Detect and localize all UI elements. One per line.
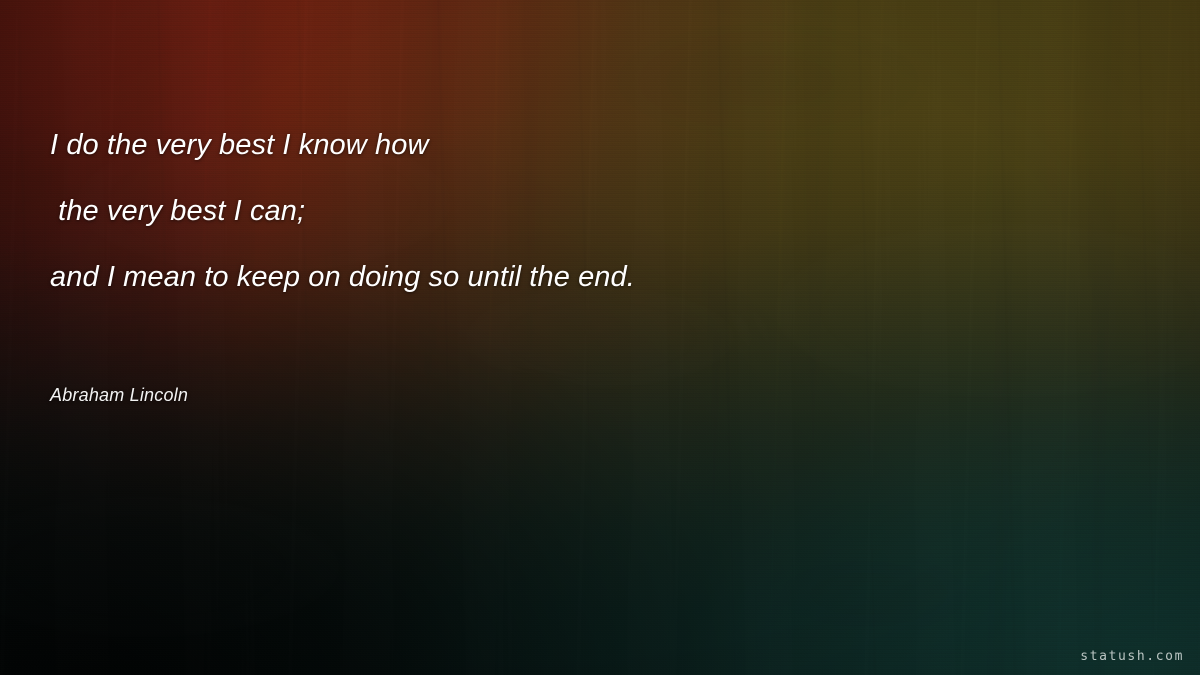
quote-text-block: I do the very best I know how the very b… [50, 112, 1110, 310]
quote-author: Abraham Lincoln [50, 385, 188, 406]
content-layer: I do the very best I know how the very b… [0, 0, 1200, 675]
quote-line-3: and I mean to keep on doing so until the… [50, 244, 1110, 310]
site-watermark: statush.com [1080, 649, 1184, 664]
quote-line-2: the very best I can; [50, 178, 1110, 244]
quote-image-canvas: I do the very best I know how the very b… [0, 0, 1200, 675]
quote-line-1: I do the very best I know how [50, 112, 1110, 178]
